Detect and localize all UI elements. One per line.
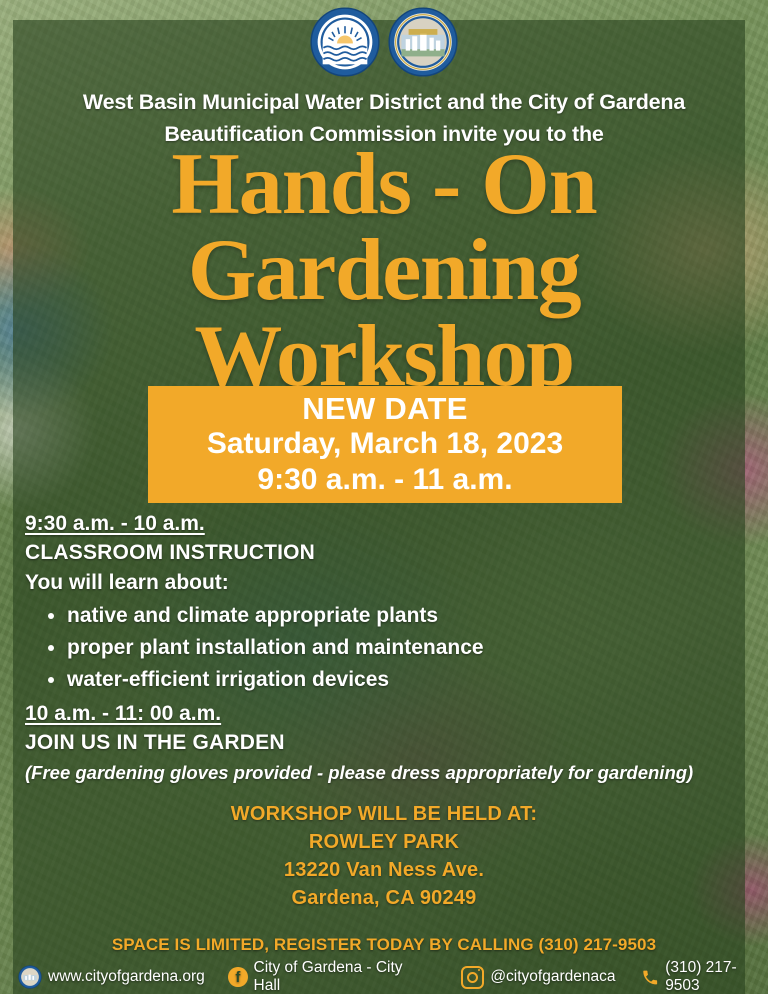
location-section: WORKSHOP WILL BE HELD AT: ROWLEY PARK 13… bbox=[0, 800, 768, 912]
new-date-label: NEW DATE bbox=[302, 391, 467, 426]
footer-facebook-item[interactable]: f City of Gardena - City Hall bbox=[228, 959, 428, 994]
facebook-icon: f bbox=[228, 967, 247, 987]
location-venue: ROWLEY PARK bbox=[0, 828, 768, 856]
schedule-block1-time: 9:30 a.m. - 10 a.m. bbox=[25, 510, 743, 538]
phone-icon bbox=[641, 968, 659, 987]
flyer-content: West Basin Municipal Water District and … bbox=[0, 0, 768, 994]
event-title-line1: Hands - On bbox=[0, 142, 768, 228]
footer-instagram-item[interactable]: @cityofgardenaca bbox=[461, 966, 615, 989]
list-item: water-efficient irrigation devices bbox=[67, 664, 743, 696]
logo-row bbox=[0, 6, 768, 78]
city-seal-icon bbox=[18, 965, 42, 989]
schedule-block2-title: JOIN US IN THE GARDEN bbox=[25, 728, 743, 758]
footer-facebook-text: City of Gardena - City Hall bbox=[254, 959, 429, 994]
invite-header-line1: West Basin Municipal Water District and … bbox=[30, 86, 738, 118]
event-title-line2: Gardening bbox=[0, 228, 768, 314]
footer-instagram-text: @cityofgardenaca bbox=[490, 968, 615, 986]
learning-topics-list: native and climate appropriate plants pr… bbox=[25, 600, 743, 696]
list-item: native and climate appropriate plants bbox=[67, 600, 743, 632]
event-date: Saturday, March 18, 2023 bbox=[207, 426, 563, 462]
register-callout: SPACE IS LIMITED, REGISTER TODAY BY CALL… bbox=[0, 935, 768, 955]
footer-phone-item[interactable]: (310) 217-9503 bbox=[641, 959, 768, 994]
location-heading: WORKSHOP WILL BE HELD AT: bbox=[0, 800, 768, 828]
event-title: Hands - On Gardening Workshop bbox=[0, 142, 768, 400]
instagram-icon bbox=[461, 966, 484, 989]
schedule-section: 9:30 a.m. - 10 a.m. CLASSROOM INSTRUCTIO… bbox=[25, 510, 743, 786]
location-city-state-zip: Gardena, CA 90249 bbox=[0, 884, 768, 912]
event-time: 9:30 a.m. - 11 a.m. bbox=[257, 462, 512, 498]
location-street: 13220 Van Ness Ave. bbox=[0, 856, 768, 884]
footer-website-item[interactable]: www.cityofgardena.org bbox=[18, 965, 205, 989]
schedule-block2-note: (Free gardening gloves provided - please… bbox=[25, 760, 743, 786]
footer-website-text: www.cityofgardena.org bbox=[48, 968, 205, 986]
flyer-poster: West Basin Municipal Water District and … bbox=[0, 0, 768, 994]
west-basin-seal-icon bbox=[309, 6, 381, 78]
list-item: proper plant installation and maintenanc… bbox=[67, 632, 743, 664]
date-banner: NEW DATE Saturday, March 18, 2023 9:30 a… bbox=[148, 386, 622, 503]
footer-contact-bar: www.cityofgardena.org f City of Gardena … bbox=[0, 960, 768, 994]
schedule-block1-title: CLASSROOM INSTRUCTION bbox=[25, 538, 743, 568]
city-of-gardena-seal-icon bbox=[387, 6, 459, 78]
schedule-block1-lead: You will learn about: bbox=[25, 568, 743, 598]
footer-phone-text: (310) 217-9503 bbox=[665, 959, 768, 994]
schedule-block2-time: 10 a.m. - 11: 00 a.m. bbox=[25, 700, 743, 728]
